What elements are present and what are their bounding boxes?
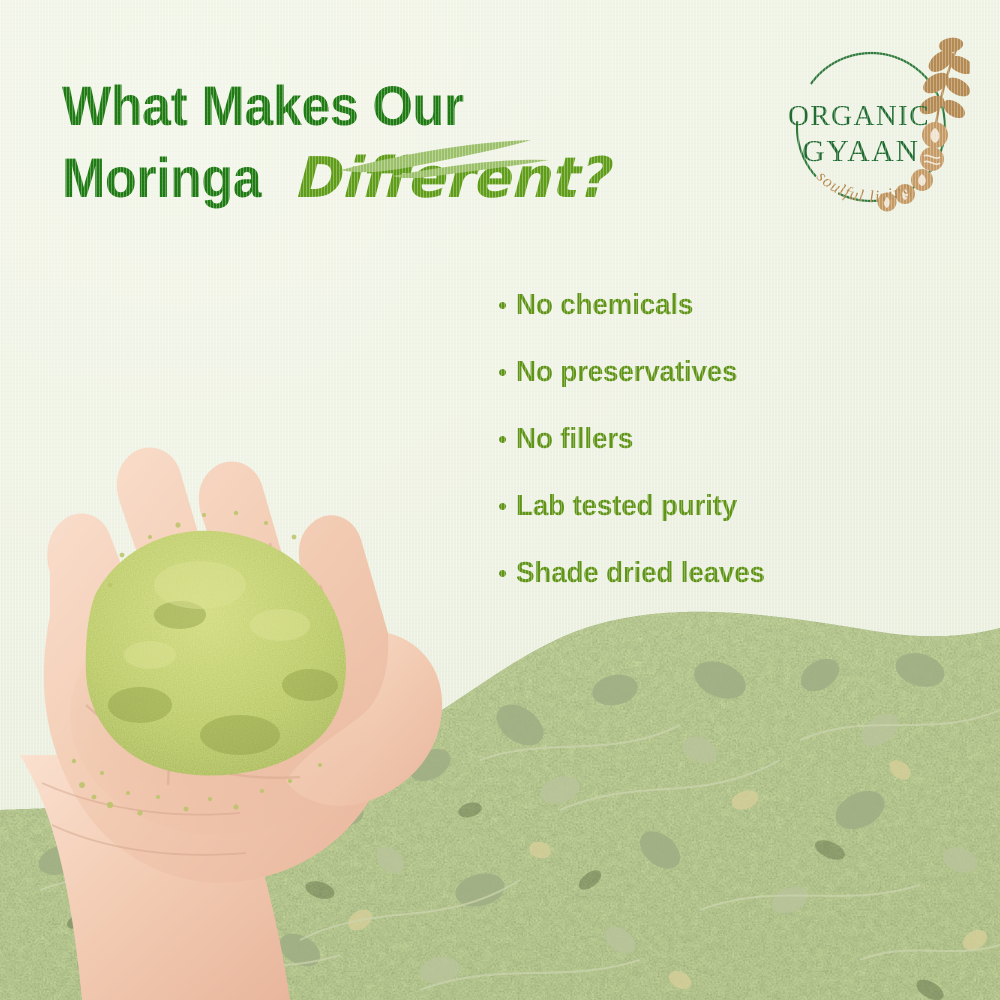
bullet-dot-icon: •	[498, 355, 516, 389]
list-item-label: No fillers	[516, 422, 633, 456]
hand-with-powder-photo	[0, 285, 490, 1000]
benefits-list: • No chemicals • No preservatives • No f…	[498, 288, 968, 623]
list-item: • Shade dried leaves	[498, 556, 968, 590]
poster-canvas: What Makes Our Moringa Different?	[0, 0, 1000, 1000]
list-item: • No fillers	[498, 422, 968, 456]
headline-line-1: What Makes Our	[62, 78, 639, 134]
list-item: • Lab tested purity	[498, 489, 968, 523]
list-item-label: Shade dried leaves	[516, 556, 765, 590]
bullet-dot-icon: •	[498, 489, 516, 523]
logo-name-line-1: ORGANIC	[788, 100, 930, 132]
list-item: • No preservatives	[498, 355, 968, 389]
bullet-dot-icon: •	[498, 556, 516, 590]
list-item-label: No preservatives	[516, 355, 737, 389]
logo-tagline: soulful living	[813, 167, 915, 206]
brand-logo: ORGANIC GYAAN soulful living	[775, 35, 970, 215]
list-item: • No chemicals	[498, 288, 968, 322]
list-item-label: Lab tested purity	[516, 489, 737, 523]
logo-name-line-2: GYAAN	[802, 133, 920, 168]
headline-swoosh-underline	[335, 136, 555, 178]
headline-line-2: Moringa	[62, 150, 261, 206]
list-item-label: No chemicals	[516, 288, 693, 322]
bullet-dot-icon: •	[498, 288, 516, 322]
bullet-dot-icon: •	[498, 422, 516, 456]
